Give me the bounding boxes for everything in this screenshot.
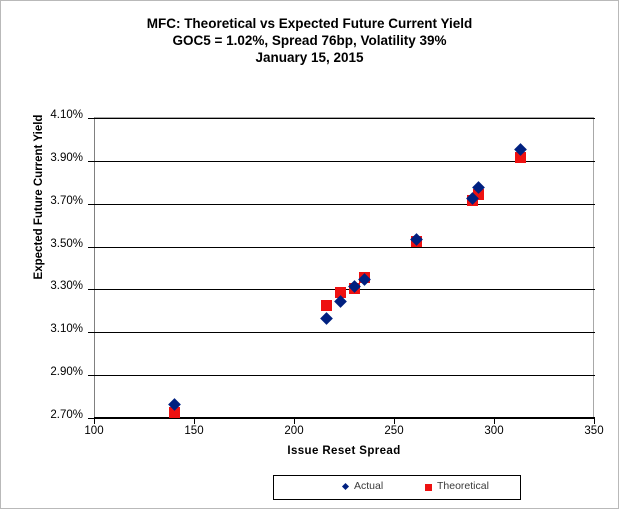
gridline	[95, 118, 595, 119]
y-axis-tick	[88, 375, 95, 376]
y-axis-tick	[88, 161, 95, 162]
legend: Actual Theoretical	[273, 475, 521, 500]
x-axis-tick-label: 300	[474, 425, 514, 437]
legend-label-actual: Actual	[354, 480, 383, 492]
y-axis-tick-label: 2.90%	[31, 366, 83, 378]
gridline	[95, 375, 595, 376]
y-axis-title: Expected Future Current Yield	[33, 97, 45, 297]
data-point-theoretical	[321, 300, 332, 311]
x-axis-tick	[294, 417, 295, 424]
y-axis-tick	[88, 289, 95, 290]
legend-label-theoretical: Theoretical	[437, 480, 489, 492]
y-axis-tick	[88, 332, 95, 333]
legend-marker-actual	[342, 483, 349, 490]
x-axis-title: Issue Reset Spread	[94, 445, 594, 457]
y-axis-tick	[88, 204, 95, 205]
x-axis-tick-label: 150	[174, 425, 214, 437]
gridline	[95, 247, 595, 248]
y-axis-tick	[88, 118, 95, 119]
chart-frame: MFC: Theoretical vs Expected Future Curr…	[0, 0, 619, 509]
x-axis-tick	[94, 417, 95, 424]
x-axis-tick	[494, 417, 495, 424]
x-axis-tick-label: 100	[74, 425, 114, 437]
gridline	[95, 204, 595, 205]
y-axis-tick-label: 2.70%	[31, 409, 83, 421]
y-axis-tick-label: 3.10%	[31, 323, 83, 335]
x-axis-tick	[594, 417, 595, 424]
legend-marker-theoretical	[425, 484, 432, 491]
x-axis-tick-label: 200	[274, 425, 314, 437]
x-axis-tick	[394, 417, 395, 424]
x-axis-tick-label: 350	[574, 425, 614, 437]
y-axis-title-wrap: Expected Future Current Yield	[1, 1, 2, 2]
x-axis-tick-label: 250	[374, 425, 414, 437]
y-axis-tick	[88, 247, 95, 248]
x-axis-tick	[194, 417, 195, 424]
gridline	[95, 332, 595, 333]
